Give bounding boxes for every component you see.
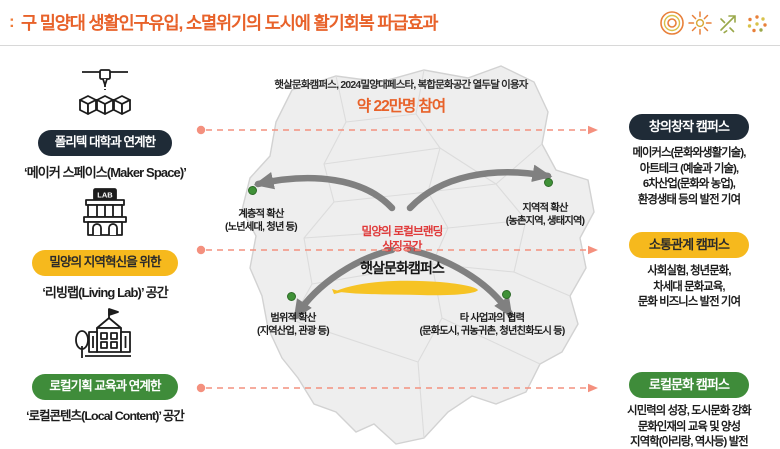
map-caption: 햇살문화캠퍼스, 2024밀양대페스타, 복합문화공간 열두달 이용자 약 22…	[196, 76, 606, 116]
map-dot-partner	[502, 290, 511, 299]
subtitle-living-lab: ‘리빙랩(Living Lab)’ 공간	[0, 282, 210, 301]
detail-line: 문화인재의 교육 및 양성	[598, 420, 780, 436]
sunburst-icon	[689, 12, 711, 34]
badge-communication-campus[interactable]: 소통관계 캠퍼스	[629, 232, 749, 258]
lab-building-icon: LAB	[0, 186, 210, 243]
map-label-partner: 타 사업과의 협력 (문화도시, 귀농귀촌, 청년친화도시 등)	[382, 312, 602, 339]
detail-line: 사회실험, 청년문화,	[598, 264, 780, 280]
map-dot-scope	[287, 292, 296, 301]
card-local-culture-campus[interactable]: 로컬문화 캠퍼스 시민력의 성장, 도시문화 강화 문화인재의 교육 및 양성 …	[598, 372, 780, 449]
connector-top	[196, 124, 606, 136]
detail-line: 차세대 문화교육,	[598, 280, 780, 296]
detail-line: 6차산업(문화와 농업),	[598, 177, 780, 193]
detail-line: 지역학(아리랑, 역사등) 발전	[598, 435, 780, 449]
connector-middle	[196, 244, 606, 256]
map-label-scope: 범위적 확산 (지역산업, 관광 등)	[228, 312, 358, 339]
title-bullet: :	[9, 12, 14, 32]
node-detail: (문화도시, 귀농귀촌, 청년친화도시 등)	[382, 325, 602, 338]
map-caption-line1: 햇살문화캠퍼스, 2024밀양대페스타, 복합문화공간 열두달 이용자	[196, 76, 606, 91]
map-dot-regional	[544, 178, 553, 187]
connector-bottom	[196, 382, 606, 394]
school-building-icon	[0, 306, 210, 367]
subtitle-local-content: ‘로컬콘텐츠(Local Content)’ 공간	[0, 406, 210, 424]
badge-creative-campus[interactable]: 창의창작 캠퍼스	[629, 114, 749, 140]
svg-text:LAB: LAB	[97, 191, 113, 200]
header-divider	[0, 45, 780, 46]
card-maker-space[interactable]: 폴리텍 대학과 연계한 ‘메이커 스페이스(Maker Space)’	[0, 66, 210, 181]
card-creative-campus[interactable]: 창의창작 캠퍼스 메이커스(문화와생활기술), 아트테크 (예술과 기술), 6…	[598, 114, 780, 208]
map-label-hierarchical: 계층적 확산 (노년세대, 청년 등)	[196, 208, 326, 235]
card-living-lab[interactable]: LAB 밀양의 지역혁신을 위한 ‘리빙랩(Living Lab)’ 공간	[0, 186, 210, 301]
map-dot-hierarchical	[248, 186, 257, 195]
detail-line: 시민력의 성장, 도시문화 강화	[598, 404, 780, 420]
infographic-page: : 구 밀양대 생활인구유입, 소멸위기의 도시에 활기회복 파급효과	[0, 0, 780, 449]
node-title: 범위적 확산	[228, 312, 358, 325]
subtitle-maker-space: ‘메이커 스페이스(Maker Space)’	[0, 162, 210, 181]
badge-local-content[interactable]: 로컬기획 교육과 연계한	[32, 374, 177, 400]
node-title: 계층적 확산	[196, 208, 326, 221]
rays-icon	[721, 16, 735, 33]
detail-line: 문화 비즈니스 발전 기여	[598, 295, 780, 311]
page-title: 구 밀양대 생활인구유입, 소멸위기의 도시에 활기회복 파급효과	[21, 10, 437, 35]
details-creative-campus: 메이커스(문화와생활기술), 아트테크 (예술과 기술), 6차산업(문화와 농…	[598, 146, 780, 208]
map-label-regional: 지역적 확산 (농촌지역, 생태지역)	[480, 202, 610, 229]
node-title: 타 사업과의 협력	[382, 312, 602, 325]
card-communication-campus[interactable]: 소통관계 캠퍼스 사회실험, 청년문화, 차세대 문화교육, 문화 비즈니스 발…	[598, 232, 780, 311]
map-center-campus: 햇살문화캠퍼스	[322, 258, 482, 278]
header-decoration-icons	[658, 8, 770, 38]
node-detail: (노년세대, 청년 등)	[196, 221, 326, 234]
details-local-culture-campus: 시민력의 성장, 도시문화 강화 문화인재의 교육 및 양성 지역학(아리랑, …	[598, 404, 780, 449]
node-detail: (농촌지역, 생태지역)	[480, 215, 610, 228]
dotted-circle-icon	[748, 15, 767, 32]
3d-printer-icon	[0, 66, 210, 123]
concentric-circles-icon	[661, 12, 683, 34]
card-local-content[interactable]: 로컬기획 교육과 연계한 ‘로컬콘텐츠(Local Content)’ 공간	[0, 306, 210, 424]
node-title: 지역적 확산	[480, 202, 610, 215]
details-communication-campus: 사회실험, 청년문화, 차세대 문화교육, 문화 비즈니스 발전 기여	[598, 264, 780, 311]
center-brand-line1: 밀양의 로컬브랜딩	[312, 224, 492, 239]
badge-maker-space[interactable]: 폴리텍 대학과 연계한	[38, 130, 173, 156]
detail-line: 환경생태 등의 발전 기여	[598, 193, 780, 209]
detail-line: 메이커스(문화와생활기술),	[598, 146, 780, 162]
badge-living-lab[interactable]: 밀양의 지역혁신을 위한	[32, 250, 177, 276]
page-header: : 구 밀양대 생활인구유입, 소멸위기의 도시에 활기회복 파급효과	[0, 0, 780, 46]
highlight-brush	[330, 276, 480, 298]
badge-local-culture-campus[interactable]: 로컬문화 캠퍼스	[629, 372, 749, 398]
detail-line: 아트테크 (예술과 기술),	[598, 162, 780, 178]
node-detail: (지역산업, 관광 등)	[228, 325, 358, 338]
map-caption-highlight: 약 22만명 참여	[196, 94, 606, 116]
